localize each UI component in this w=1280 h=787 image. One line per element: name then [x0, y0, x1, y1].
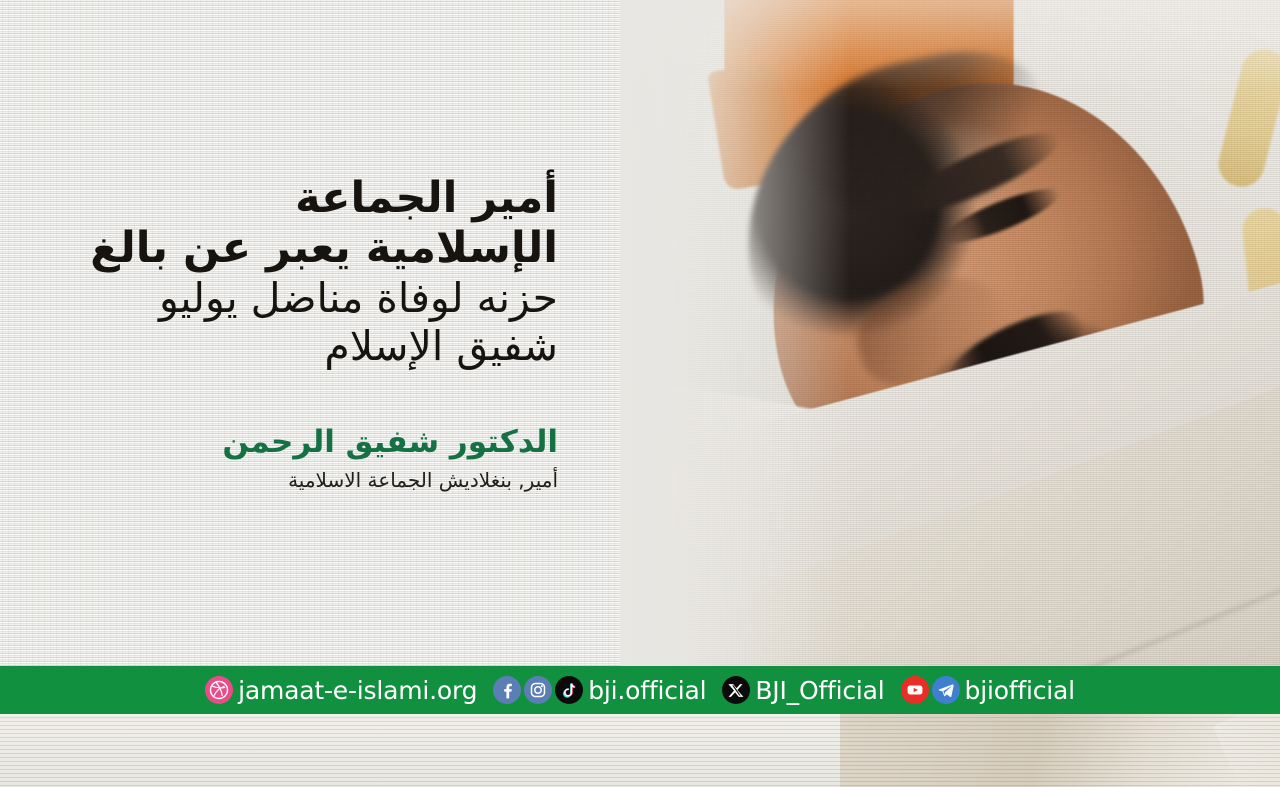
- youtube-icon[interactable]: [901, 676, 929, 704]
- x-twitter-icon[interactable]: [722, 676, 750, 704]
- social-item-telegram[interactable]: bjiofficial: [932, 676, 1075, 705]
- website-label: jamaat-e-islami.org: [238, 676, 477, 705]
- dribbble-icon[interactable]: [205, 676, 233, 704]
- social-item-tiktok[interactable]: bji.official: [555, 676, 706, 705]
- headline-line-4: شفيق الإسلام: [0, 322, 558, 370]
- social-item-youtube[interactable]: [901, 676, 929, 704]
- byline-block: الدكتور شفيق الرحمن أمير, بنغلاديش الجما…: [0, 423, 570, 494]
- person-name: الدكتور شفيق الرحمن: [0, 423, 558, 462]
- photo-left-fade: [620, 0, 850, 714]
- poster-canvas: أمير الجماعة الإسلامية يعبر عن بالغ حزنه…: [0, 0, 1280, 787]
- instagram-icon[interactable]: [524, 676, 552, 704]
- social-strip: jamaat-e-islami.org: [205, 676, 1075, 705]
- social-item-facebook[interactable]: [493, 676, 521, 704]
- tiktok-icon[interactable]: [555, 676, 583, 704]
- social-item-x[interactable]: BJI_Official: [722, 676, 884, 705]
- telegram-icon[interactable]: [932, 676, 960, 704]
- headline-block: أمير الجماعة الإسلامية يعبر عن بالغ حزنه…: [0, 173, 570, 371]
- social-footer-bar: jamaat-e-islami.org: [0, 666, 1280, 714]
- headline-line-3: حزنه لوفاة مناضل يوليو: [0, 274, 558, 322]
- tiktok-label: bji.official: [588, 676, 706, 705]
- hospital-photo: [620, 0, 1280, 714]
- photo-inner: [620, 0, 1280, 714]
- person-title: أمير, بنغلاديش الجماعة الاسلامية: [0, 467, 558, 493]
- social-item-instagram[interactable]: [524, 676, 552, 704]
- headline-line-2: الإسلامية يعبر عن بالغ: [0, 223, 558, 274]
- x-label: BJI_Official: [755, 676, 884, 705]
- bottom-strip: [0, 714, 1280, 787]
- headline-line-1: أمير الجماعة: [0, 173, 558, 224]
- bottom-strip-texture: [0, 714, 1280, 787]
- facebook-icon[interactable]: [493, 676, 521, 704]
- social-item-website[interactable]: jamaat-e-islami.org: [205, 676, 477, 705]
- telegram-label: bjiofficial: [965, 676, 1075, 705]
- text-column: أمير الجماعة الإسلامية يعبر عن بالغ حزنه…: [0, 0, 640, 666]
